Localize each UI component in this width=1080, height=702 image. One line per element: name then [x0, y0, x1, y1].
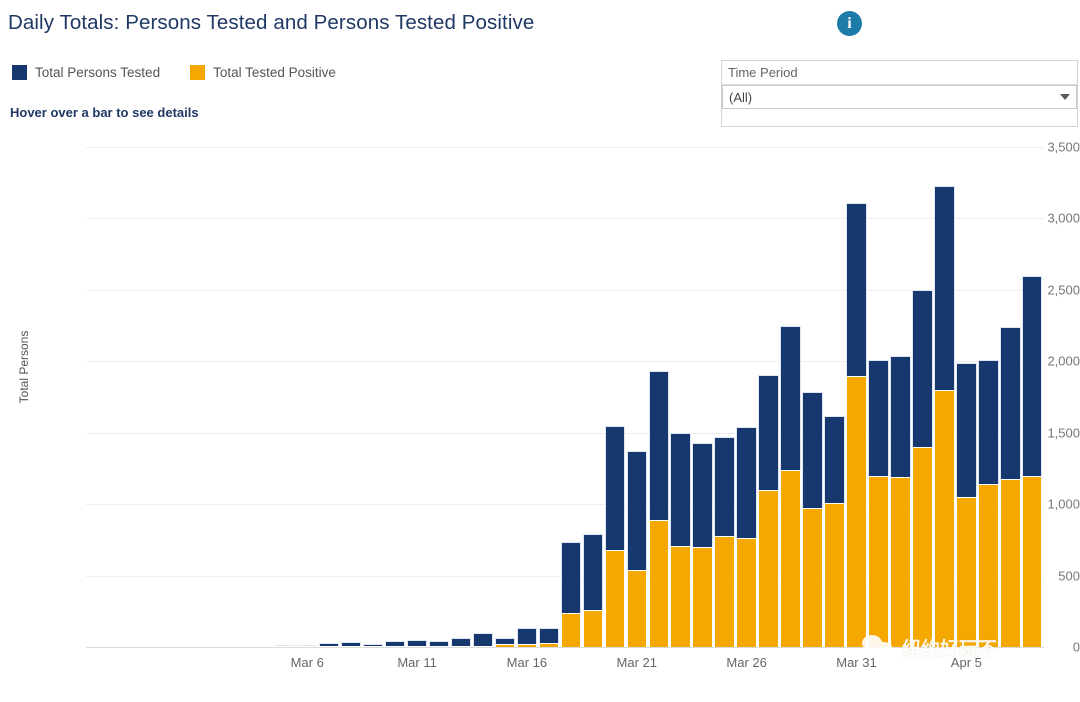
- bar-segment-tested[interactable]: [714, 437, 734, 536]
- bar-apr-2[interactable]: [890, 356, 910, 647]
- bar-segment-positive[interactable]: [407, 646, 427, 647]
- bar-segment-positive[interactable]: [605, 550, 625, 647]
- bar-mar-31[interactable]: [846, 203, 866, 647]
- bar-segment-positive[interactable]: [956, 497, 976, 647]
- bar-segment-tested[interactable]: [956, 363, 976, 497]
- bar-mar-22[interactable]: [649, 371, 669, 647]
- bar-segment-positive[interactable]: [539, 643, 559, 647]
- bar-segment-positive[interactable]: [912, 447, 932, 647]
- bar-segment-positive[interactable]: [561, 613, 581, 647]
- bar-mar-7[interactable]: [319, 643, 339, 647]
- bar-segment-positive[interactable]: [517, 644, 537, 647]
- bar-segment-positive[interactable]: [868, 476, 888, 647]
- bar-segment-positive[interactable]: [802, 508, 822, 647]
- bar-segment-positive[interactable]: [758, 490, 778, 647]
- bar-segment-tested[interactable]: [824, 416, 844, 503]
- bar-segment-positive[interactable]: [495, 644, 515, 647]
- bar-mar-14[interactable]: [473, 633, 493, 647]
- bar-mar-29[interactable]: [802, 392, 822, 647]
- bar-segment-tested[interactable]: [1022, 276, 1042, 476]
- bar-mar-12[interactable]: [429, 641, 449, 647]
- bar-mar-28[interactable]: [780, 326, 800, 647]
- bar-segment-positive[interactable]: [429, 646, 449, 647]
- gridline: [86, 647, 1044, 648]
- x-axis-tick-label: Mar 11: [397, 655, 437, 670]
- x-axis-tick-label: Apr 5: [951, 655, 982, 670]
- x-axis-tick-label: Mar 31: [836, 655, 876, 670]
- x-axis-tick-label: Mar 6: [291, 655, 324, 670]
- bar-segment-tested[interactable]: [868, 360, 888, 476]
- bar-segment-positive[interactable]: [846, 376, 866, 647]
- bar-segment-positive[interactable]: [714, 536, 734, 647]
- bar-segment-tested[interactable]: [780, 326, 800, 470]
- bar-mar-15[interactable]: [495, 638, 515, 647]
- bar-mar-9[interactable]: [363, 644, 383, 647]
- bar-segment-positive[interactable]: [319, 646, 339, 647]
- bar-segment-positive[interactable]: [583, 610, 603, 647]
- bar-mar-10[interactable]: [385, 641, 405, 647]
- bar-segment-tested[interactable]: [451, 638, 471, 646]
- bar-segment-tested[interactable]: [978, 360, 998, 484]
- bar-segment-tested[interactable]: [605, 426, 625, 550]
- bar-segment-tested[interactable]: [802, 392, 822, 508]
- bar-mar-6[interactable]: [297, 646, 317, 647]
- bar-segment-tested[interactable]: [517, 628, 537, 644]
- bar-segment-tested[interactable]: [649, 371, 669, 520]
- bar-mar-30[interactable]: [824, 416, 844, 647]
- bar-segment-positive[interactable]: [385, 646, 405, 647]
- bar-mar-18[interactable]: [561, 542, 581, 647]
- bar-segment-positive[interactable]: [627, 570, 647, 647]
- bar-apr-1[interactable]: [868, 360, 888, 647]
- bar-segment-positive[interactable]: [670, 546, 690, 647]
- bar-mar-17[interactable]: [539, 628, 559, 647]
- bar-segment-positive[interactable]: [890, 477, 910, 647]
- x-axis-tick-label: Mar 16: [507, 655, 547, 670]
- bar-apr-7[interactable]: [1000, 327, 1020, 647]
- bar-segment-tested[interactable]: [670, 433, 690, 546]
- bar-segment-tested[interactable]: [890, 356, 910, 477]
- bar-segment-positive[interactable]: [649, 520, 669, 647]
- bar-mar-27[interactable]: [758, 375, 778, 647]
- bar-segment-positive[interactable]: [736, 538, 756, 647]
- x-axis-tick-label: Mar 21: [617, 655, 657, 670]
- bar-mar-11[interactable]: [407, 640, 427, 647]
- bar-mar-25[interactable]: [714, 437, 734, 647]
- bar-apr-8[interactable]: [1022, 276, 1042, 647]
- bar-mar-24[interactable]: [692, 443, 712, 647]
- bar-segment-positive[interactable]: [451, 646, 471, 647]
- bar-apr-6[interactable]: [978, 360, 998, 647]
- bar-segment-tested[interactable]: [912, 290, 932, 447]
- bar-mar-19[interactable]: [583, 534, 603, 647]
- y-axis-title: Total Persons: [17, 307, 31, 427]
- bar-segment-tested[interactable]: [692, 443, 712, 547]
- bar-segment-positive[interactable]: [692, 547, 712, 647]
- bar-segment-tested[interactable]: [846, 203, 866, 376]
- bar-segment-tested[interactable]: [758, 375, 778, 490]
- bar-segment-positive[interactable]: [780, 470, 800, 647]
- bar-apr-4[interactable]: [934, 186, 954, 647]
- bar-chart: Total Persons 05001,0001,5002,0002,5003,…: [0, 0, 1080, 702]
- bar-segment-tested[interactable]: [627, 451, 647, 570]
- bar-segment-tested[interactable]: [736, 427, 756, 538]
- bar-segment-positive[interactable]: [341, 646, 361, 647]
- bar-mar-23[interactable]: [670, 433, 690, 647]
- bar-segment-positive[interactable]: [363, 646, 383, 647]
- bar-segment-positive[interactable]: [1022, 476, 1042, 647]
- bar-mar-26[interactable]: [736, 427, 756, 647]
- bar-segment-positive[interactable]: [297, 646, 317, 647]
- bar-segment-positive[interactable]: [473, 646, 493, 647]
- bar-mar-13[interactable]: [451, 638, 471, 647]
- bar-apr-5[interactable]: [956, 363, 976, 647]
- bar-segment-positive[interactable]: [934, 390, 954, 647]
- bar-mar-8[interactable]: [341, 642, 361, 647]
- bar-segment-tested[interactable]: [934, 186, 954, 390]
- bar-apr-3[interactable]: [912, 290, 932, 647]
- bar-mar-20[interactable]: [605, 426, 625, 647]
- bar-segment-positive[interactable]: [824, 503, 844, 647]
- x-axis-tick-label: Mar 26: [726, 655, 766, 670]
- bar-segment-tested[interactable]: [539, 628, 559, 642]
- bar-segment-tested[interactable]: [583, 534, 603, 610]
- bar-segment-positive[interactable]: [1000, 479, 1020, 647]
- bar-segment-positive[interactable]: [275, 646, 295, 647]
- bar-segment-tested[interactable]: [1000, 327, 1020, 479]
- bar-mar-21[interactable]: [627, 451, 647, 647]
- bar-segment-tested[interactable]: [473, 633, 493, 646]
- plot-area: [86, 147, 1044, 647]
- bar-mar-16[interactable]: [517, 628, 537, 647]
- bar-segment-tested[interactable]: [561, 542, 581, 613]
- bar-segment-positive[interactable]: [978, 484, 998, 647]
